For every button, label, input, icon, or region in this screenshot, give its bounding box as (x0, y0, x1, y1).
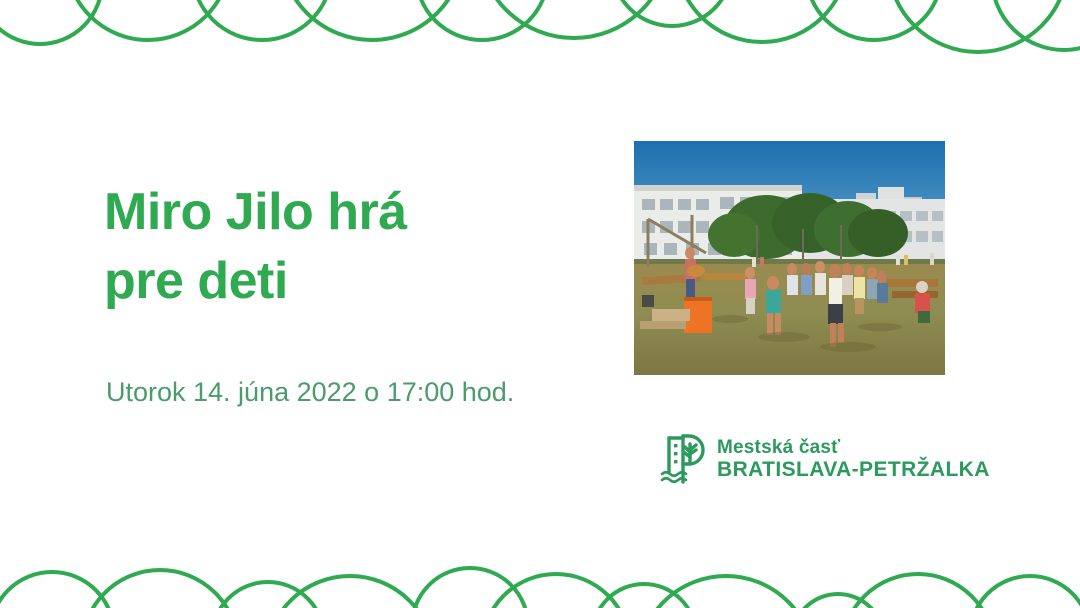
poster-canvas: Miro Jilo hrá pre deti Utorok 14. júna 2… (0, 0, 1080, 608)
event-photo (634, 141, 945, 375)
logo-line-2: BRATISLAVA-PETRŽALKA (717, 458, 990, 482)
petrzalka-logo: Mestská časť BRATISLAVA-PETRŽALKA (659, 432, 990, 486)
event-datetime: Utorok 14. júna 2022 o 17:00 hod. (106, 377, 514, 408)
petrzalka-p-mark-icon (659, 432, 707, 486)
page-title: Miro Jilo hrá pre deti (104, 178, 624, 316)
bottom-circle-decoration (0, 488, 1080, 608)
logo-line-1: Mestská časť (717, 437, 990, 458)
top-circle-decoration (0, 0, 1080, 120)
headline-line-1: Miro Jilo hrá (104, 178, 624, 247)
headline-line-2: pre deti (104, 247, 624, 316)
logo-wordmark: Mestská časť BRATISLAVA-PETRŽALKA (717, 437, 990, 482)
